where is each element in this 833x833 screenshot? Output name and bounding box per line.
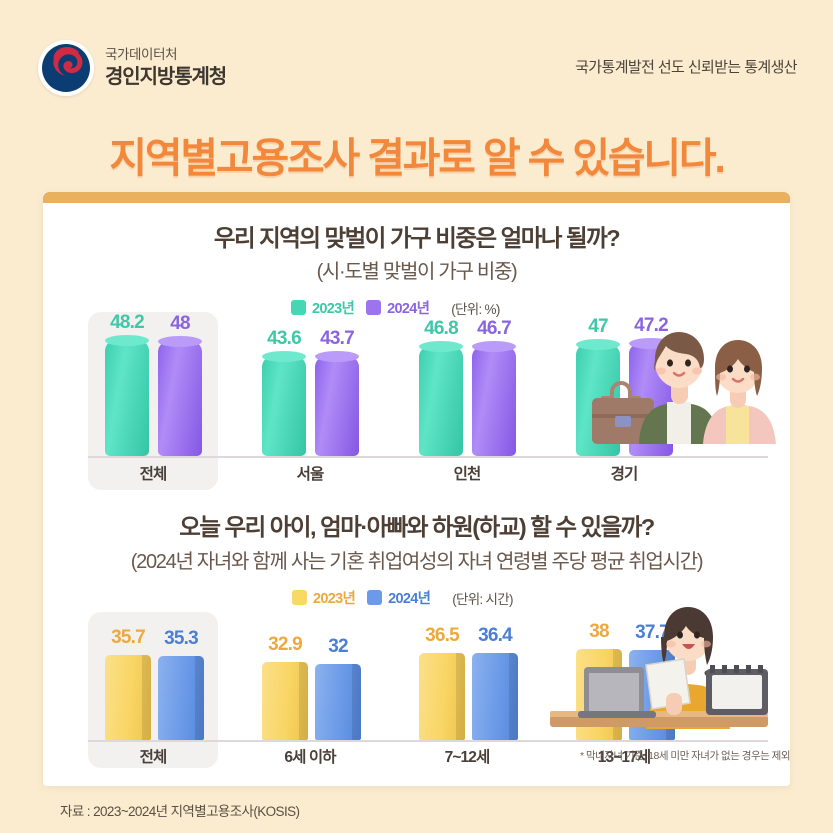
chart1-bar-인천-2024: 46.7 xyxy=(472,346,516,456)
chart2-value-전체-2023: 35.7 xyxy=(111,627,145,649)
chart1-bar-전체-2024: 48 xyxy=(158,341,202,456)
section2-title: 오늘 우리 아이, 엄마·아빠와 하원(하교) 할 수 있을까? xyxy=(43,508,790,542)
chart1-group-서울: 43.6 43.7 xyxy=(262,422,359,456)
chart2-legend: 2023년 2024년 (단위: 시간) xyxy=(292,587,513,608)
chart2-bar-7-12세-2024: 36.4 xyxy=(472,653,518,740)
chart1-baseline xyxy=(88,456,768,458)
chart1-category-2: 인천 xyxy=(402,462,532,484)
chart2-legend-item-2023: 2023년 xyxy=(292,587,355,608)
chart1-group-인천: 46.8 46.7 xyxy=(419,422,516,456)
chart1-bar-전체-2023: 48.2 xyxy=(105,340,149,456)
section1-subtitle: (시·도별 맞벌이 가구 비중) xyxy=(43,255,790,284)
chart2-unit-label: (단위: 시간) xyxy=(452,588,513,608)
chart2-bar-전체-2023: 35.7 xyxy=(105,655,151,740)
chart2-category-1: 6세 이하 xyxy=(245,745,375,767)
header-tagline: 국가통계발전 선도 신뢰받는 통계생산 xyxy=(575,56,797,77)
org-name-main: 경인지방통계청 xyxy=(105,65,226,90)
working-woman-at-desk-illustration xyxy=(540,597,790,745)
source-note: 자료 : 2023~2024년 지역별고용조사(KOSIS) xyxy=(60,800,299,820)
chart2-value-전체-2024: 35.3 xyxy=(164,628,198,650)
section1-title: 우리 지역의 맞벌이 가구 비중은 얼마나 될까? xyxy=(43,219,790,253)
chart2-category-2: 7~12세 xyxy=(402,745,532,767)
chart1-bar-인천-2023: 46.8 xyxy=(419,346,463,456)
taeguk-logo-icon xyxy=(38,40,94,96)
chart2-bar-전체-2024: 35.3 xyxy=(158,656,204,740)
chart1-group-전체: 48.2 48 xyxy=(105,422,202,456)
chart2-legend-item-2024: 2024년 xyxy=(367,587,430,608)
chart2-group-7-12세: 36.5 36.4 xyxy=(419,712,518,740)
chart1-value-서울-2023: 43.6 xyxy=(267,328,301,350)
chart2-value-6세이하-2024: 32 xyxy=(328,636,348,658)
chart2-legend-label-2024: 2024년 xyxy=(388,587,430,608)
legend-swatch-icon xyxy=(292,590,307,605)
chart2-bar-7-12세-2023: 36.5 xyxy=(419,653,465,740)
chart2-group-6세이하: 32.9 32 xyxy=(262,712,361,740)
chart2-bar-6세이하-2024: 32 xyxy=(315,664,361,740)
chart1-value-전체-2023: 48.2 xyxy=(110,312,144,334)
chart2-value-7-12세-2024: 36.4 xyxy=(478,625,512,647)
organization-logo: 국가데이터처 경인지방통계청 xyxy=(38,40,226,96)
chart1-value-인천-2023: 46.8 xyxy=(424,318,458,340)
chart2-value-6세이하-2023: 32.9 xyxy=(268,634,302,656)
couple-with-briefcase-illustration xyxy=(587,322,782,456)
chart2-group-전체: 35.7 35.3 xyxy=(105,712,204,740)
chart1-category-1: 서울 xyxy=(245,462,375,484)
chart1-value-서울-2024: 43.7 xyxy=(320,328,354,350)
legend-swatch-icon xyxy=(367,590,382,605)
chart1-bar-서울-2024: 43.7 xyxy=(315,356,359,456)
card-accent-bar xyxy=(43,192,790,203)
chart2-value-7-12세-2023: 36.5 xyxy=(425,625,459,647)
chart2-bar-6세이하-2023: 32.9 xyxy=(262,662,308,740)
chart2-legend-label-2023: 2023년 xyxy=(313,587,355,608)
chart1-bar-서울-2023: 43.6 xyxy=(262,356,306,456)
chart2-category-0: 전체 xyxy=(88,745,218,767)
page-header: 국가데이터처 경인지방통계청 국가통계발전 선도 신뢰받는 통계생산 xyxy=(0,38,833,108)
org-name-small: 국가데이터처 xyxy=(105,46,226,64)
chart1-category-0: 전체 xyxy=(88,462,218,484)
chart1-category-3: 경기 xyxy=(559,462,689,484)
chart1-value-인천-2024: 46.7 xyxy=(477,318,511,340)
chart1-value-전체-2024: 48 xyxy=(170,313,190,335)
page-title: 지역별고용조사 결과로 알 수 있습니다. xyxy=(0,124,833,184)
section2-subtitle: (2024년 자녀와 함께 사는 기혼 취업여성의 자녀 연령별 주당 평균 취… xyxy=(43,545,790,574)
chart2-footnote: * 막내자녀 기준, 18세 미만 자녀가 없는 경우는 제외 xyxy=(540,748,790,763)
